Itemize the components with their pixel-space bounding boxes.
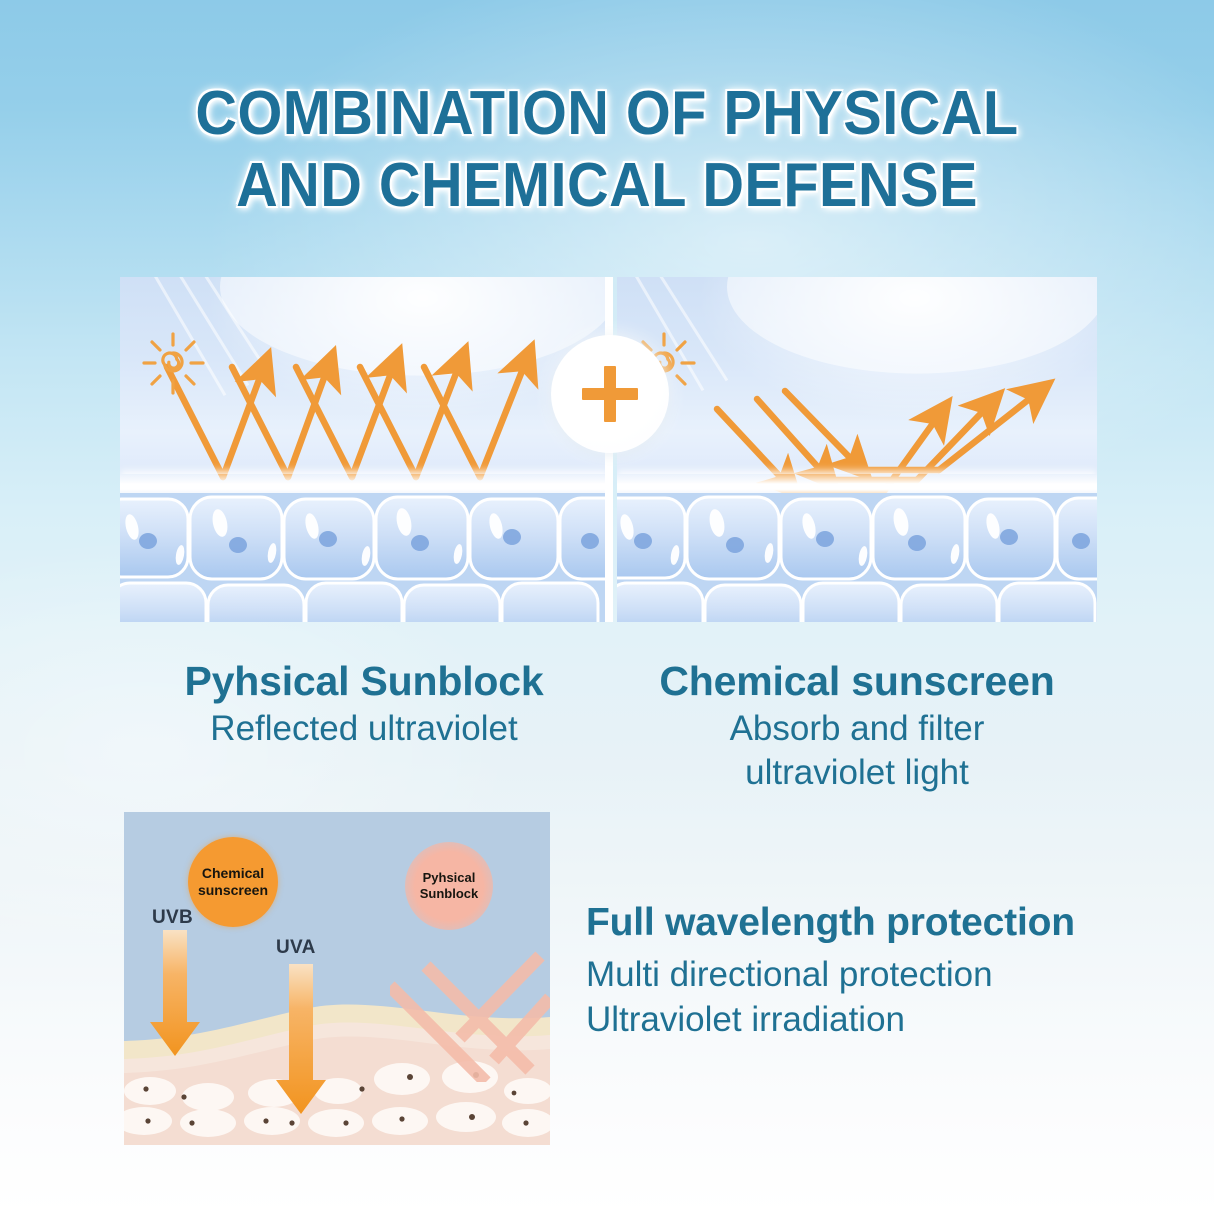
full-wavelength-diagram: Chemical sunscreen Pyhsical Sunblock UVB… xyxy=(124,812,550,1145)
uva-label: UVA xyxy=(276,937,316,959)
physical-sunblock-badge: Pyhsical Sunblock xyxy=(405,842,493,930)
plus-icon-vertical-bar xyxy=(604,366,616,422)
caption-chemical: Chemical sunscreen Absorb and filter ult… xyxy=(617,655,1097,795)
sun-icon xyxy=(136,326,210,400)
panel-chemical-sunscreen xyxy=(617,277,1097,622)
infographic-canvas: COMBINATION OF PHYSICAL AND CHEMICAL DEF… xyxy=(0,0,1214,1214)
bottom-heading: Full wavelength protection xyxy=(586,898,1166,948)
plus-icon xyxy=(551,335,669,453)
panel-physical-sunblock xyxy=(120,277,608,622)
bottom-subtext-line-1: Multi directional protection xyxy=(586,952,1166,997)
down-arrow-icon-uvb xyxy=(148,930,202,1058)
uvb-label: UVB xyxy=(152,907,193,929)
caption-physical-subtext: Reflected ultraviolet xyxy=(120,707,608,751)
bottom-text-block: Full wavelength protection Multi directi… xyxy=(586,898,1166,1042)
caption-physical: Pyhsical Sunblock Reflected ultraviolet xyxy=(120,655,608,751)
chemical-sunscreen-badge: Chemical sunscreen xyxy=(188,837,278,927)
reflected-rays-icon xyxy=(390,942,550,1082)
bottom-subtext-line-2: Ultraviolet irradiation xyxy=(586,997,1166,1042)
page-title: COMBINATION OF PHYSICAL AND CHEMICAL DEF… xyxy=(42,78,1171,222)
skin-cell-layer xyxy=(617,493,1097,622)
skin-cell-layer xyxy=(120,493,608,622)
down-arrow-icon-uva xyxy=(274,964,328,1116)
chemical-sunscreen-badge-label: Chemical sunscreen xyxy=(198,865,268,899)
caption-chemical-heading: Chemical sunscreen xyxy=(617,655,1097,707)
physical-sunblock-badge-label: Pyhsical Sunblock xyxy=(420,870,479,902)
caption-chemical-subtext: Absorb and filter ultraviolet light xyxy=(617,707,1097,795)
caption-physical-heading: Pyhsical Sunblock xyxy=(120,655,608,707)
